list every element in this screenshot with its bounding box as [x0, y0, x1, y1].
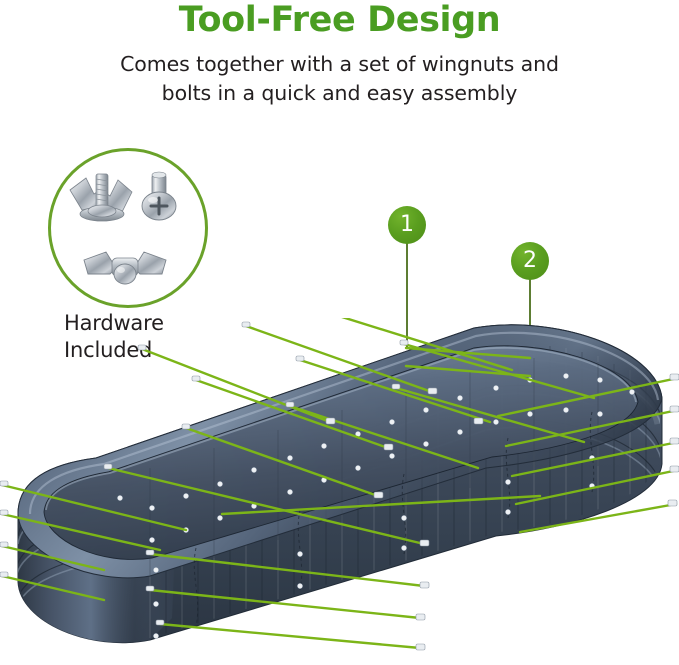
raised-garden-bed-illustration — [0, 318, 679, 665]
callout-number-2: 2 — [511, 242, 549, 280]
infographic-canvas: Tool-Free Design Comes together with a s… — [0, 0, 679, 665]
wingnut-on-bolt-icon — [70, 174, 132, 221]
phillips-bolt-icon — [142, 172, 176, 220]
subtitle-line-2: bolts in a quick and easy assembly — [50, 79, 629, 108]
wingnut-icon — [84, 252, 166, 284]
callout-number-1: 1 — [388, 206, 426, 244]
page-subtitle: Comes together with a set of wingnuts an… — [50, 50, 629, 108]
callout-marker-1[interactable]: 1 — [388, 206, 426, 244]
callout-marker-2[interactable]: 2 — [511, 242, 549, 280]
subtitle-line-1: Comes together with a set of wingnuts an… — [120, 52, 559, 76]
hardware-illustration — [48, 148, 208, 308]
hardware-included-badge — [48, 148, 208, 308]
page-title: Tool-Free Design — [0, 2, 679, 39]
